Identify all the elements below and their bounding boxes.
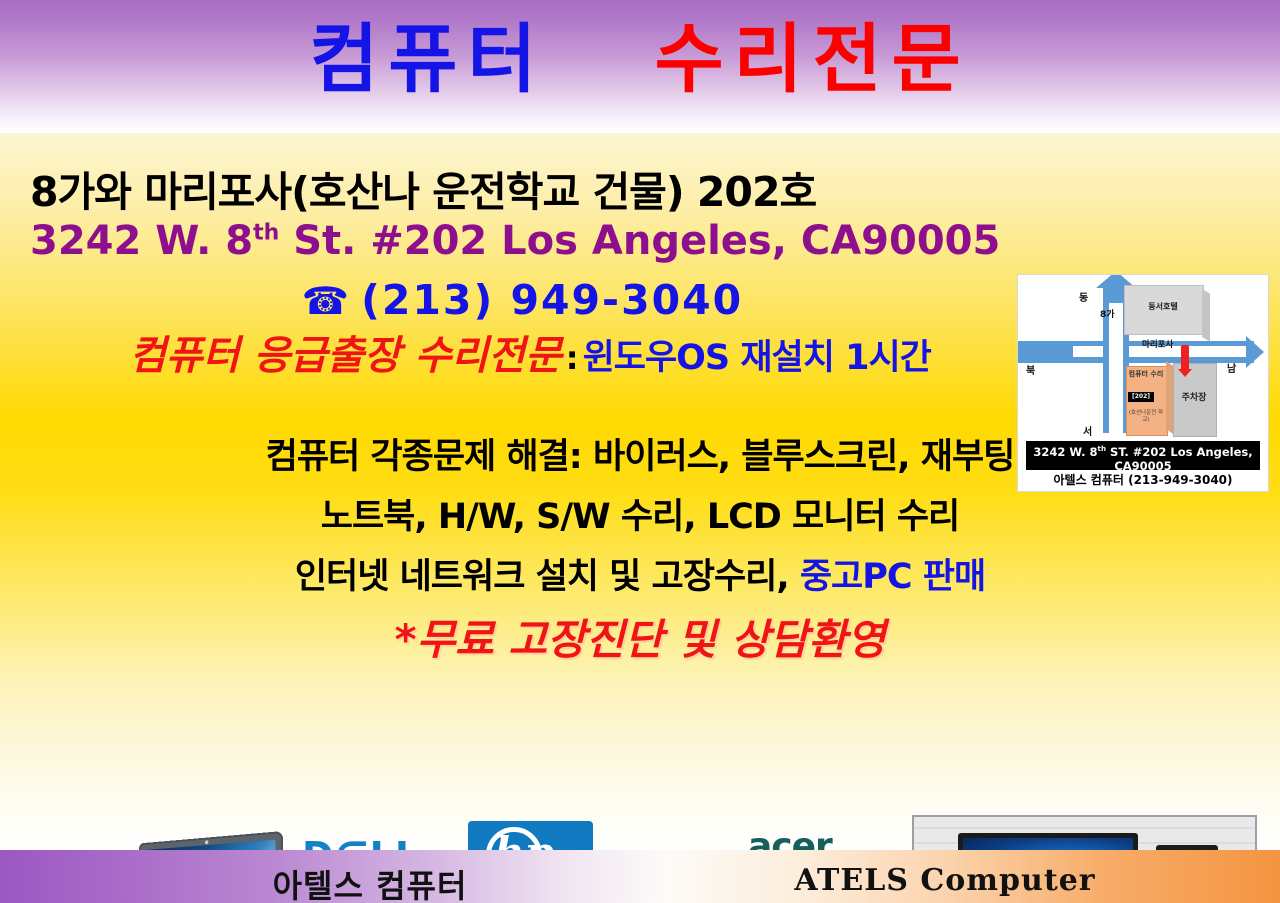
title-red-text: 수리전문 [655,15,971,103]
emergency-service-line: 컴퓨터 응급출장 수리전문:윈도우OS 재설치 1시간 [30,336,1030,376]
service-line-2: 노트북, H/W, S/W 수리, LCD 모니터 수리 [0,488,1280,539]
map-location-marker-tip-icon [1178,369,1192,377]
emergency-detail: 윈도우OS 재설치 1시간 [583,338,931,378]
map-direction-south: 남 [1227,360,1236,375]
map-road-vertical-divider [1109,303,1123,433]
free-diagnosis-promo: *무료 고장진단 및 상담환영 [0,606,1280,667]
map-street-vertical-label: 8가 [1100,307,1115,320]
map-direction-north: 동 [1079,289,1088,304]
map-shop-label: 컴퓨터 수리 [1126,370,1166,378]
location-map[interactable]: 동서호텔 주차장 컴퓨터 수리 [202] (호산나운전 학교) 동 북 서 남… [1017,274,1269,492]
phone-number-line[interactable]: ☎(213) 949-3040 [30,276,1015,324]
emergency-headline: 컴퓨터 응급출장 수리전문 [129,333,562,379]
title-blue-text: 컴퓨터 [309,15,546,103]
map-location-marker-icon [1181,345,1189,371]
map-caption-address: 3242 W. 8th ST. #202 Los Angeles, CA9000… [1026,441,1260,470]
telephone-icon: ☎ [302,279,351,323]
map-caption-business: 아텔스 컴퓨터 (213-949-3040) [1018,471,1268,488]
map-shop-unit-badge: [202] [1128,392,1154,402]
map-canvas: 동서호텔 주차장 컴퓨터 수리 [202] (호산나운전 학교) 동 북 서 남… [1018,275,1268,445]
address-korean: 8가와 마리포사(호산나 운전학교 건물) 202호 [30,158,1015,218]
map-arrow-right-icon [1246,336,1264,368]
map-caption-post: ST. #202 Los Angeles, CA90005 [1106,445,1253,473]
main-content: 8가와 마리포사(호산나 운전학교 건물) 202호 3242 W. 8th S… [0,133,1280,850]
laptop-webcam-icon [205,840,208,844]
map-hotel-building-side [1202,289,1210,342]
address-english: 3242 W. 8th St. #202 Los Angeles, CA9000… [30,218,1015,264]
address-english-pre: 3242 W. 8 [30,218,253,264]
service-line-3-highlight: 중고PC 판매 [800,557,985,597]
map-direction-west: 북 [1026,362,1035,377]
map-shop-building-side [1166,361,1173,434]
map-caption-ordinal: th [1098,444,1106,453]
service-line-3-text: 인터넷 네트워크 설치 및 고장수리, [295,557,800,597]
footer-business-name-korean: 아텔스 컴퓨터 [175,861,565,903]
map-direction-east: 서 [1083,423,1092,438]
map-shop-sublabel: (호산나운전 학교) [1126,410,1166,423]
address-ordinal-suffix: th [253,221,279,246]
flyer-page: 컴퓨터 수리전문 8가와 마리포사(호산나 운전학교 건물) 202호 3242… [0,0,1280,903]
map-hotel-label: 동서호텔 [1124,301,1202,312]
header-banner: 컴퓨터 수리전문 [0,0,1280,133]
service-line-3: 인터넷 네트워크 설치 및 고장수리, 중고PC 판매 [0,548,1280,599]
footer-banner: 아텔스 컴퓨터 ATELS Computer [0,850,1280,903]
map-parking-label: 주차장 [1173,390,1215,403]
page-title: 컴퓨터 수리전문 [0,22,1280,97]
footer-business-name-english: ATELS Computer [735,863,1155,898]
emergency-separator: : [566,339,579,377]
address-english-post: St. #202 Los Angeles, CA90005 [279,218,1000,264]
phone-number: (213) 949-3040 [361,276,743,324]
map-street-horizontal-label: 마리포사 [1142,338,1173,350]
map-caption-pre: 3242 W. 8 [1033,445,1097,459]
